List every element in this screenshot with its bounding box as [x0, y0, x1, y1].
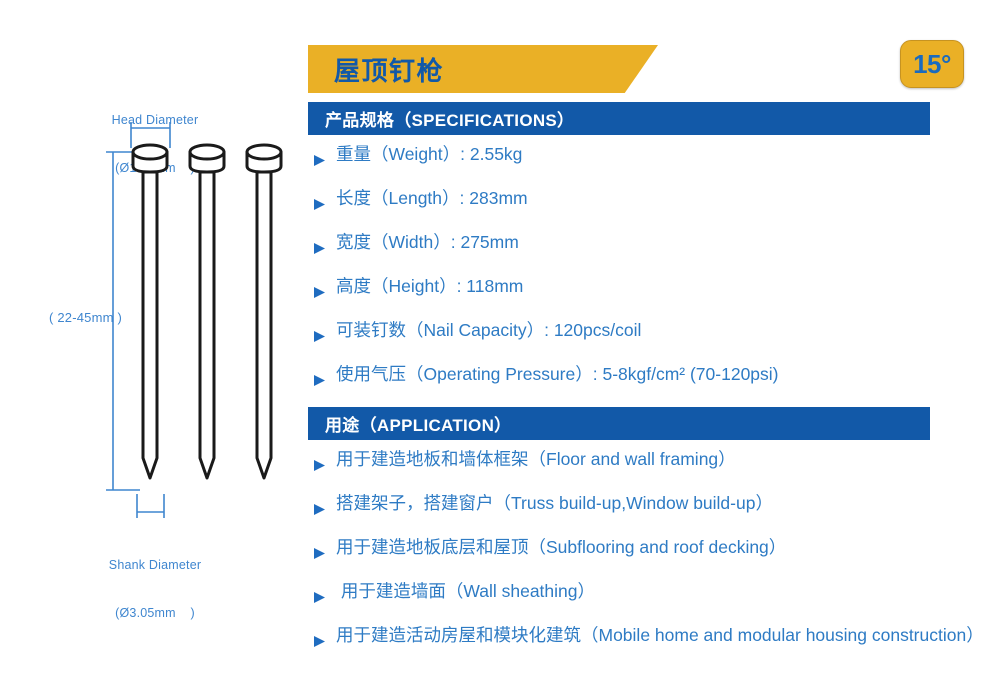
- list-item: 高度（Height）: 118mm: [308, 275, 998, 303]
- triangle-bullet-icon: [314, 536, 327, 564]
- list-item-text: 使用气压（Operating Pressure）: 5-8kgf/cm² (70…: [336, 363, 998, 385]
- nail-diagram-panel: Head Diameter (Ø10.5mm ) ( 22-45mm ) Sha…: [0, 0, 300, 700]
- nail-item: [247, 145, 281, 478]
- specifications-list: 重量（Weight）: 2.55kg 长度（Length）: 283mm 宽度（…: [308, 143, 998, 407]
- application-header-label: 用途（APPLICATION）: [325, 411, 511, 436]
- nail-illustration: [0, 0, 300, 700]
- list-item-text: 用于建造活动房屋和模块化建筑（Mobile home and modular h…: [336, 624, 998, 646]
- triangle-bullet-icon: [314, 187, 327, 215]
- triangle-bullet-icon: [314, 319, 327, 347]
- triangle-bullet-icon: [314, 143, 327, 171]
- list-item: 用于建造地板底层和屋顶（Subflooring and roof decking…: [308, 536, 998, 564]
- list-item: 长度（Length）: 283mm: [308, 187, 998, 215]
- list-item-text: 重量（Weight）: 2.55kg: [336, 143, 998, 165]
- triangle-bullet-icon: [314, 363, 327, 391]
- triangle-bullet-icon: [314, 231, 327, 259]
- product-title-banner: 屋顶钉枪: [308, 45, 658, 93]
- application-list: 用于建造地板和墙体框架（Floor and wall framing） 搭建架子…: [308, 448, 998, 668]
- list-item-text: 宽度（Width）: 275mm: [336, 231, 998, 253]
- nail-item: [133, 145, 167, 478]
- list-item: 用于建造墙面（Wall sheathing）: [308, 580, 998, 608]
- list-item: 用于建造活动房屋和模块化建筑（Mobile home and modular h…: [308, 624, 998, 652]
- list-item-text: 搭建架子，搭建窗户（Truss build-up,Window build-up…: [336, 492, 998, 514]
- list-item-text: 用于建造地板和墙体框架（Floor and wall framing）: [336, 448, 998, 470]
- list-item-text: 用于建造地板底层和屋顶（Subflooring and roof decking…: [336, 536, 998, 558]
- product-title: 屋顶钉枪: [334, 51, 444, 88]
- list-item-text: 长度（Length）: 283mm: [336, 187, 998, 209]
- list-item: 宽度（Width）: 275mm: [308, 231, 998, 259]
- list-item-text: 高度（Height）: 118mm: [336, 275, 998, 297]
- list-item: 可装钉数（Nail Capacity）: 120pcs/coil: [308, 319, 998, 347]
- list-item: 搭建架子，搭建窗户（Truss build-up,Window build-up…: [308, 492, 998, 520]
- triangle-bullet-icon: [314, 580, 327, 608]
- specifications-header: 产品规格（SPECIFICATIONS）: [308, 102, 930, 135]
- application-header: 用途（APPLICATION）: [308, 407, 930, 440]
- list-item-text: 可装钉数（Nail Capacity）: 120pcs/coil: [336, 319, 998, 341]
- nail-item: [190, 145, 224, 478]
- specifications-header-label: 产品规格（SPECIFICATIONS）: [325, 106, 574, 131]
- angle-badge: 15°: [900, 40, 964, 88]
- triangle-bullet-icon: [314, 624, 327, 652]
- triangle-bullet-icon: [314, 275, 327, 303]
- dimension-lines: [106, 122, 170, 518]
- list-item: 重量（Weight）: 2.55kg: [308, 143, 998, 171]
- angle-badge-value: 15°: [913, 51, 951, 77]
- list-item: 用于建造地板和墙体框架（Floor and wall framing）: [308, 448, 998, 476]
- content-panel: 屋顶钉枪 15° 产品规格（SPECIFICATIONS） 重量（Weight）…: [308, 0, 1000, 700]
- triangle-bullet-icon: [314, 448, 327, 476]
- list-item: 使用气压（Operating Pressure）: 5-8kgf/cm² (70…: [308, 363, 998, 391]
- list-item-text: 用于建造墙面（Wall sheathing）: [336, 580, 998, 602]
- triangle-bullet-icon: [314, 492, 327, 520]
